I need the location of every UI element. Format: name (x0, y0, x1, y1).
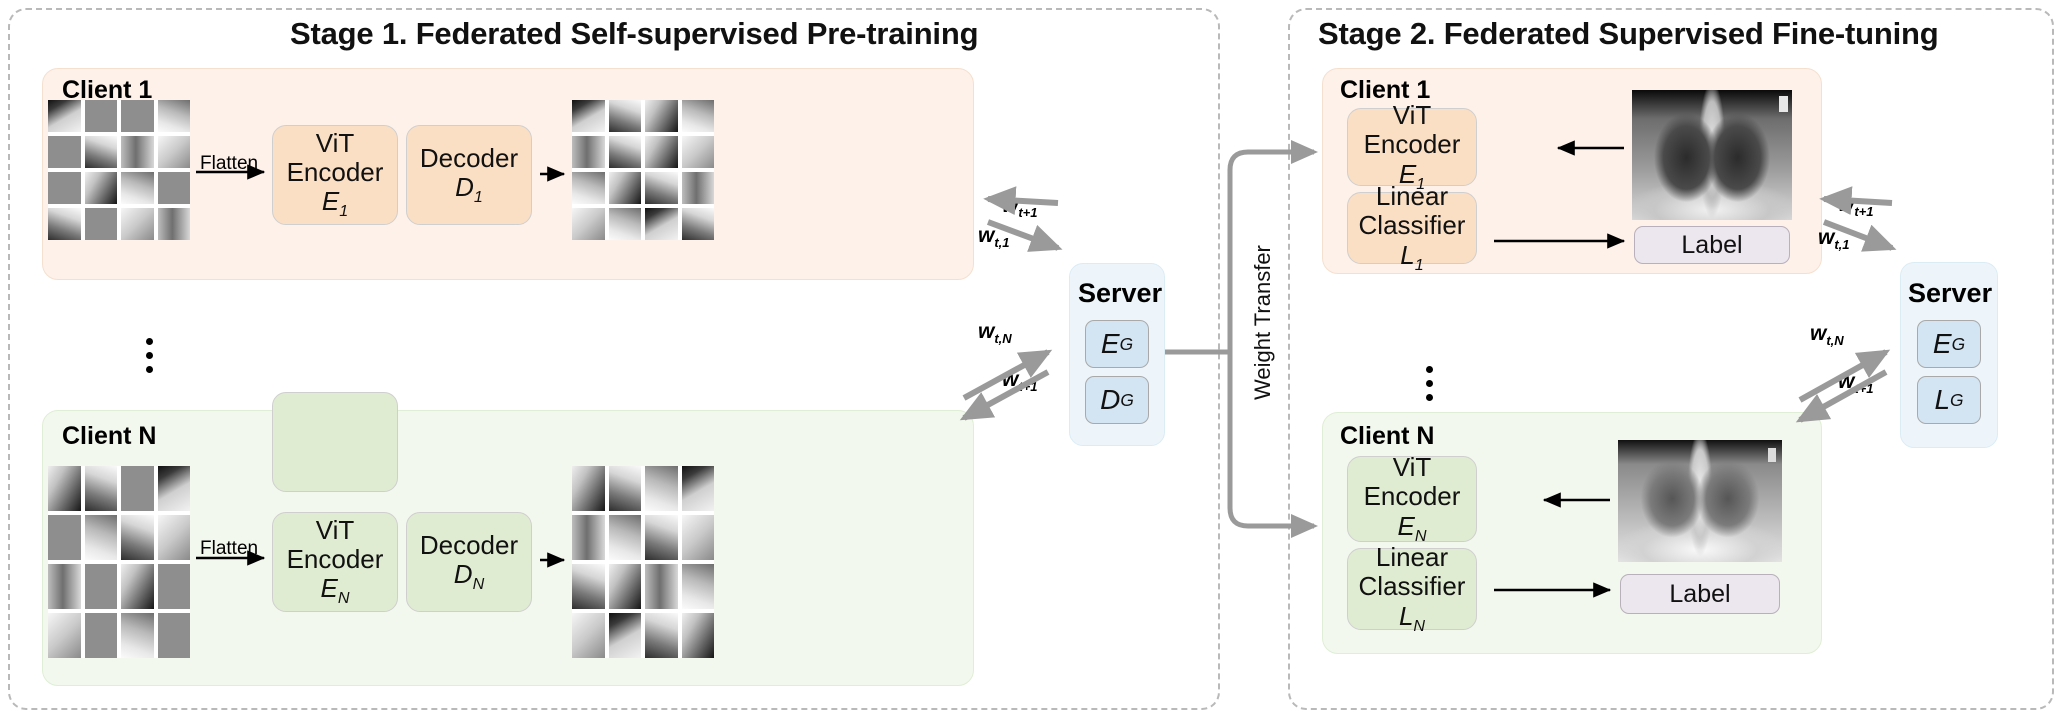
patch (645, 466, 678, 511)
stage2-title: Stage 2. Federated Supervised Fine-tunin… (1318, 16, 1939, 52)
stage1-client1-decoder-box: Decoder D1 (406, 125, 532, 225)
stage1-clientN-masked-input-grid (48, 466, 190, 658)
patch (682, 466, 715, 511)
patch (572, 515, 605, 560)
classifier-line2: Classifier L1 (1348, 211, 1476, 273)
classifier-line1: Linear (1376, 543, 1448, 572)
decoder-line1: Decoder (420, 144, 518, 173)
decoder-symbol: DN (454, 560, 484, 593)
stage2-server-chip-classifier: LG (1917, 376, 1981, 424)
patch (682, 208, 715, 240)
patch (85, 172, 118, 204)
patch (121, 613, 154, 658)
stage2-client1-encoder-box: ViT Encoder E1 (1347, 108, 1477, 186)
encoder-line2: Encoder (287, 545, 384, 574)
patch (645, 515, 678, 560)
patch (609, 208, 642, 240)
patch (572, 172, 605, 204)
patch (158, 100, 191, 132)
patch (609, 613, 642, 658)
stage1-clientN-flatten-label: Flatten (200, 538, 258, 560)
patch (645, 136, 678, 168)
patch (85, 515, 118, 560)
patch (609, 172, 642, 204)
stage1-client1-reconstructed-grid (572, 100, 714, 240)
patch (48, 172, 81, 204)
stage2-client1-xray-image (1632, 90, 1792, 220)
patch (609, 100, 642, 132)
patch (85, 466, 118, 511)
stage1-clientN-encoder-box-hidden (272, 392, 398, 492)
decoder-symbol: D1 (455, 173, 483, 206)
patch (48, 564, 81, 609)
patch (572, 208, 605, 240)
patch (572, 466, 605, 511)
patch (158, 515, 191, 560)
stage2-client1-down-weight-label: wt,1 (1818, 226, 1850, 252)
patch (48, 100, 81, 132)
stage1-client1-masked-input-grid (48, 100, 190, 240)
patch (609, 136, 642, 168)
stage1-clientN-reconstructed-grid (572, 466, 714, 658)
patch (121, 136, 154, 168)
patch (121, 564, 154, 609)
patch (645, 208, 678, 240)
stage2-client1-up-weight-label: wt+1 (1838, 193, 1874, 219)
encoder-line1: ViT (1393, 453, 1432, 482)
stage1-clientN-label: Client N (62, 422, 156, 451)
patch (121, 208, 154, 240)
patch (121, 172, 154, 204)
stage1-client-ellipsis (146, 338, 153, 373)
patch (85, 208, 118, 240)
stage1-title: Stage 1. Federated Self-supervised Pre-t… (290, 16, 978, 52)
stage2-client1-classifier-box: Linear Classifier L1 (1347, 192, 1477, 264)
patch (121, 100, 154, 132)
patch (158, 466, 191, 511)
patch (572, 100, 605, 132)
figure-root: Stage 1. Federated Self-supervised Pre-t… (0, 0, 2062, 720)
stage2-server-chip-encoder: EG (1917, 320, 1981, 368)
classifier-line2-text: Classifier (1359, 210, 1466, 240)
patch (572, 136, 605, 168)
patch (158, 172, 191, 204)
patch (85, 613, 118, 658)
classifier-line1: Linear (1376, 182, 1448, 211)
stage2-clientN-encoder-box: ViT Encoder EN (1347, 456, 1477, 542)
patch (572, 564, 605, 609)
patch (158, 564, 191, 609)
patch (85, 136, 118, 168)
patch (609, 466, 642, 511)
stage2-server-title: Server (1908, 278, 1992, 309)
stage2-client1-label-chip: Label (1634, 226, 1790, 264)
stage1-client1-down-weight-label: wt,1 (978, 224, 1010, 250)
encoder-symbol: E1 (322, 187, 348, 220)
stage2-client-ellipsis (1426, 366, 1433, 401)
encoder-line2-text: Encoder (1364, 129, 1461, 159)
patch (682, 100, 715, 132)
patch (682, 613, 715, 658)
stage1-clientN-encoder-box: ViT Encoder EN (272, 512, 398, 612)
patch (48, 208, 81, 240)
patch (48, 466, 81, 511)
decoder-line1: Decoder (420, 531, 518, 560)
stage1-server-title: Server (1078, 278, 1162, 309)
encoder-line1: ViT (1393, 101, 1432, 130)
patch (682, 564, 715, 609)
patch (48, 515, 81, 560)
patch (682, 515, 715, 560)
patch (158, 613, 191, 658)
stage1-client1-up-weight-label: wt+1 (1002, 194, 1038, 220)
encoder-line2: Encoder EN (1348, 482, 1476, 544)
stage1-server-chip-decoder: DG (1085, 376, 1149, 424)
encoder-line1: ViT (316, 129, 355, 158)
patch (609, 515, 642, 560)
stage1-clientN-down-weight-label: wt+1 (1002, 368, 1038, 394)
patch (85, 564, 118, 609)
patch (158, 208, 191, 240)
patch (85, 100, 118, 132)
stage2-clientN-down-weight-label: wt+1 (1838, 370, 1874, 396)
stage1-client1-encoder-box: ViT Encoder E1 (272, 125, 398, 225)
stage1-clientN-decoder-box: Decoder DN (406, 512, 532, 612)
patch (572, 613, 605, 658)
stage2-clientN-label-chip: Label (1620, 574, 1780, 614)
classifier-line2-text: Classifier (1359, 571, 1466, 601)
patch (48, 136, 81, 168)
encoder-symbol: EN (321, 574, 350, 607)
patch (682, 172, 715, 204)
stage1-server-chip-encoder: EG (1085, 320, 1149, 368)
stage2-clientN-up-weight-label: wt,N (1810, 322, 1844, 348)
patch (645, 613, 678, 658)
patch (158, 136, 191, 168)
patch (645, 100, 678, 132)
weight-transfer-label: Weight Transfer (1250, 245, 1276, 400)
encoder-line1: ViT (316, 516, 355, 545)
stage2-clientN-classifier-box: Linear Classifier LN (1347, 548, 1477, 630)
patch (645, 564, 678, 609)
encoder-line2: Encoder (287, 158, 384, 187)
patch (48, 613, 81, 658)
encoder-line2-text: Encoder (1364, 481, 1461, 511)
classifier-line2: Classifier LN (1348, 572, 1476, 634)
stage1-client1-flatten-label: Flatten (200, 153, 258, 175)
patch (121, 466, 154, 511)
patch (645, 172, 678, 204)
stage1-clientN-up-weight-label: wt,N (978, 320, 1012, 346)
patch (609, 564, 642, 609)
stage2-clientN-xray-image (1618, 440, 1782, 562)
patch (682, 136, 715, 168)
patch (121, 515, 154, 560)
stage2-clientN-label: Client N (1340, 422, 1434, 451)
